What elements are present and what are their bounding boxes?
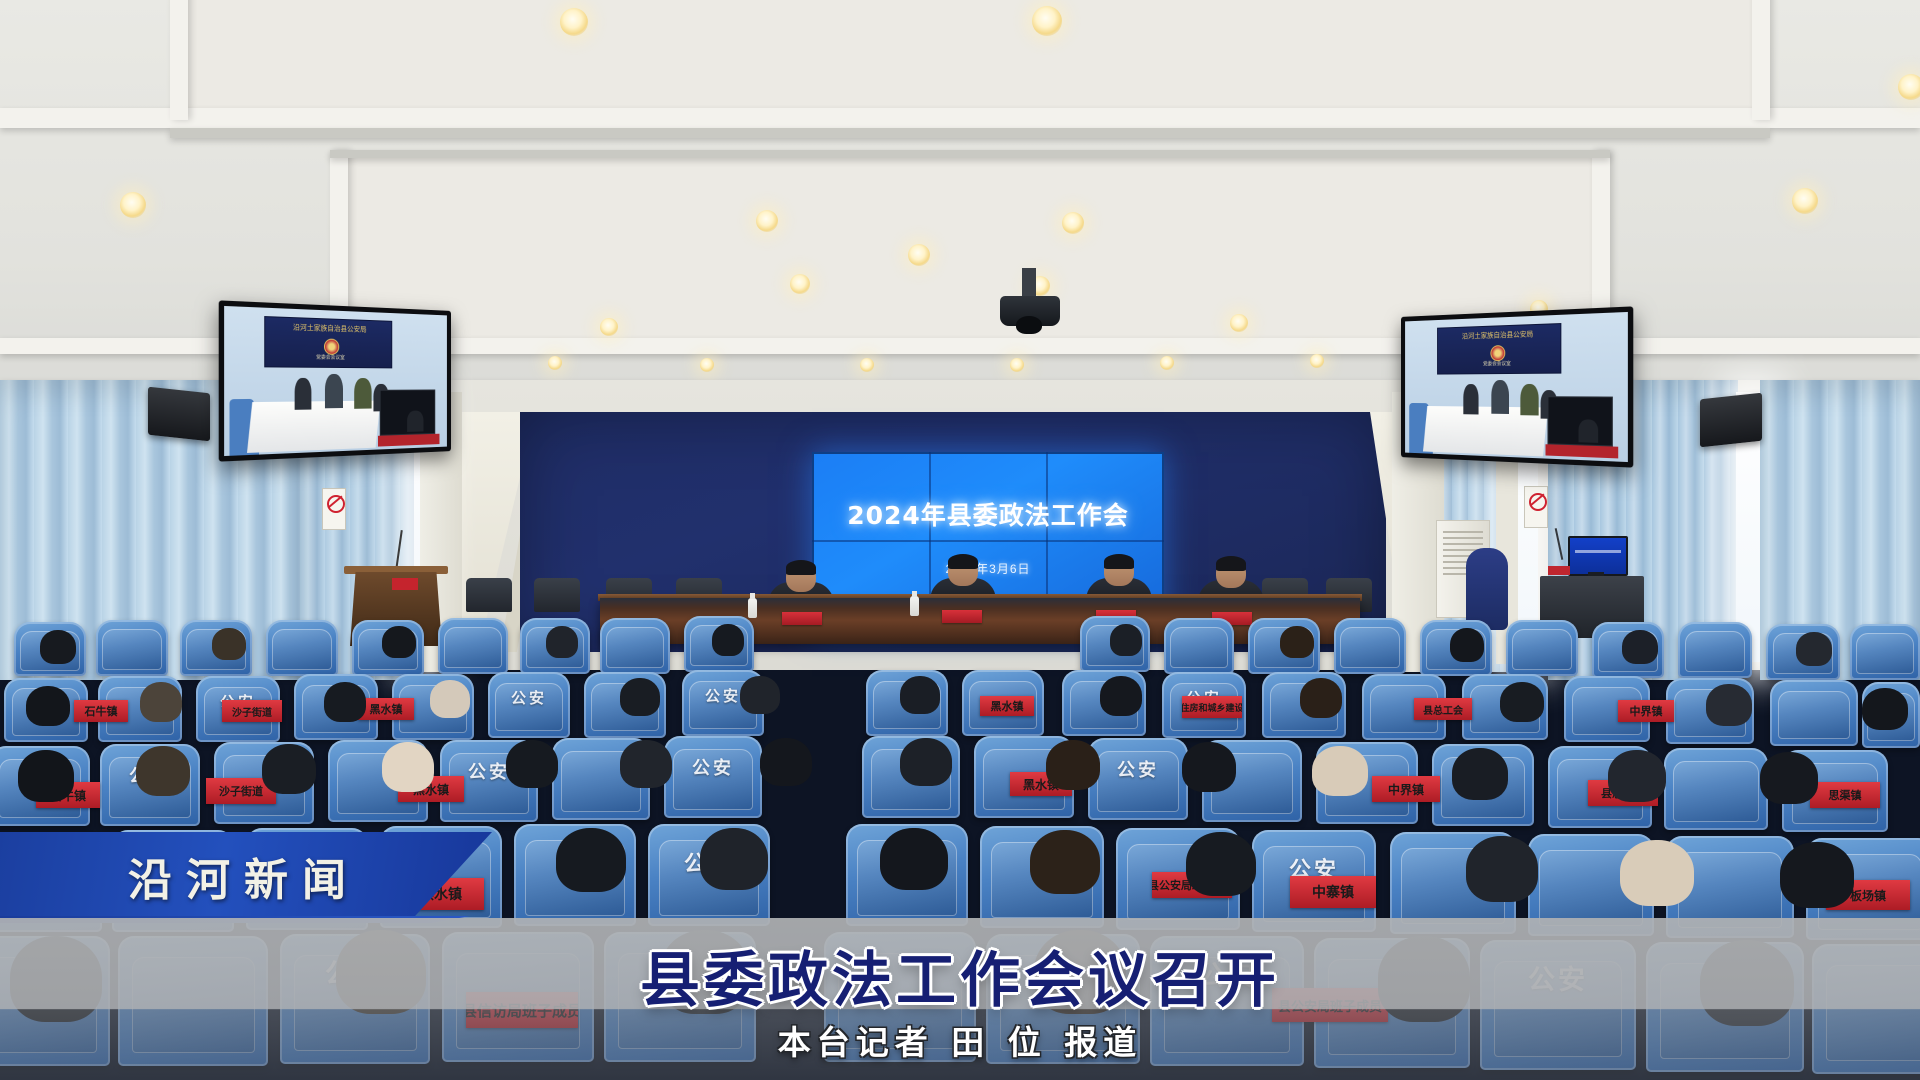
- audience-seat: [266, 620, 338, 676]
- police-emblem-icon: [1490, 345, 1505, 361]
- ceiling-beam: [0, 108, 1920, 128]
- attendee-head: [1280, 626, 1314, 658]
- ceiling-beam: [1752, 0, 1770, 120]
- ceiling-beam: [170, 0, 188, 120]
- attendee-head: [1450, 628, 1484, 662]
- attendee-head: [900, 676, 940, 714]
- downlight: [1230, 314, 1248, 332]
- department-placard: 黑水镇: [358, 698, 414, 720]
- attendee-head: [1182, 742, 1236, 792]
- feed-person: [1491, 380, 1509, 414]
- downlight: [600, 318, 618, 336]
- feed-person: [354, 378, 371, 409]
- downlight: [1898, 74, 1920, 100]
- downlight: [1792, 188, 1818, 214]
- attendee-head: [620, 678, 660, 716]
- attendee-head: [1100, 676, 1142, 716]
- reporter-credit: 本台记者 田 位 报道: [0, 1016, 1920, 1064]
- ceiling-beam-shade: [170, 128, 1770, 138]
- attendee-head: [382, 626, 416, 658]
- department-placard: 黑水镇: [980, 696, 1034, 716]
- podium-placard: [392, 578, 418, 590]
- department-placard: 石牛镇: [74, 700, 128, 722]
- feed-banner-left: 沿河土家族自治县公安局 党委会会议室: [264, 316, 392, 368]
- audience-seat: 公安: [488, 672, 570, 738]
- control-desk-placard: [1548, 566, 1570, 575]
- attendee-head: [1608, 750, 1666, 802]
- control-desk-monitor: [1568, 536, 1628, 576]
- police-emblem-icon: [324, 338, 339, 354]
- attendee-head: [546, 626, 578, 658]
- speaker-left: [148, 387, 210, 442]
- attendee-head: [212, 628, 246, 660]
- video-feed-left: 沿河土家族自治县公安局 党委会会议室: [224, 306, 447, 456]
- seat-print-label: 公安: [664, 754, 762, 780]
- led-wall-title: 2024年县委政法工作会: [812, 496, 1164, 532]
- downlight: [120, 192, 146, 218]
- ceiling-coffer: [330, 150, 1610, 340]
- no-smoking-icon: [1524, 486, 1548, 528]
- attendee-head: [140, 682, 182, 722]
- attendee-head: [506, 740, 558, 788]
- attendee-head: [1300, 678, 1342, 718]
- audience-seat: [1678, 622, 1752, 678]
- audience-seat: [1664, 748, 1768, 830]
- audience-seat: [96, 620, 168, 676]
- attendee-head: [262, 744, 316, 794]
- department-placard: 思渠镇: [1810, 782, 1880, 808]
- attendee-head: [740, 676, 780, 714]
- audience-seat: [1770, 680, 1858, 746]
- attendee-head: [712, 624, 744, 656]
- feed-person: [1464, 384, 1479, 414]
- department-placard: 中界镇: [1372, 776, 1440, 802]
- camera-lens-icon: [1016, 316, 1042, 334]
- feed-person: [407, 410, 423, 432]
- speaker-right: [1700, 393, 1762, 448]
- audience-seat: [1334, 618, 1406, 674]
- attendee-head: [1046, 740, 1100, 790]
- attendee-head: [1706, 684, 1752, 726]
- feed-person: [325, 374, 343, 408]
- audience-seat: 公安: [664, 736, 762, 818]
- audience-seat: [438, 618, 508, 674]
- audience-seat: [600, 618, 670, 674]
- lower-third-graphics: 沿河新闻 县委政法工作会议召开 本台记者 田 位 报道: [0, 820, 1920, 1080]
- downlight: [1310, 354, 1324, 368]
- seat-print-label: 公安: [1088, 756, 1188, 782]
- downlight: [860, 358, 874, 372]
- feed-red-placard: [1545, 444, 1617, 458]
- channel-logo-text: 沿河新闻: [128, 844, 360, 908]
- feed-red-placard: [378, 434, 439, 447]
- downlight: [1032, 6, 1062, 36]
- downlight: [548, 356, 562, 370]
- downlight: [1062, 212, 1084, 234]
- feed-banner-subtitle: 党委会会议室: [265, 352, 391, 361]
- news-headline: 县委政法工作会议召开: [0, 932, 1920, 1019]
- attendee-head: [1796, 632, 1832, 666]
- attendee-head: [1312, 746, 1368, 796]
- feed-banner-right: 沿河土家族自治县公安局 党委会会议室: [1437, 323, 1561, 374]
- department-placard: 沙子街道: [222, 700, 282, 722]
- ceiling-beam-shade: [330, 150, 1610, 158]
- attendee-head: [1622, 630, 1658, 664]
- feed-person: [1520, 384, 1538, 415]
- broadcast-frame: 2024年县委政法工作会 2024年3月6日 沿河土家族自治县: [0, 0, 1920, 1080]
- wall-monitor-left: 沿河土家族自治县公安局 党委会会议室: [219, 300, 451, 461]
- audience-seat: 公安: [1088, 738, 1188, 820]
- attendee-head: [324, 682, 366, 722]
- wall-monitor-right: 沿河土家族自治县公安局 党委会会议室: [1401, 306, 1633, 467]
- downlight: [1010, 358, 1024, 372]
- seat-print-label: 公安: [488, 687, 570, 708]
- attendee-head: [26, 686, 70, 726]
- audience-seat: [1850, 624, 1920, 680]
- attendee-head: [1760, 752, 1818, 804]
- downlight: [790, 274, 810, 294]
- attendee-head: [1110, 624, 1142, 656]
- downlight: [700, 358, 714, 372]
- attendee-head: [1862, 688, 1908, 730]
- attendee-head: [620, 740, 672, 788]
- attendee-head: [136, 746, 190, 796]
- no-smoking-icon: [322, 488, 346, 530]
- downlight: [908, 244, 930, 266]
- attendee-head: [430, 680, 470, 718]
- downlight: [1160, 356, 1174, 370]
- feed-person: [1578, 419, 1597, 443]
- attendee-head: [40, 630, 76, 664]
- attendee-head: [760, 738, 812, 786]
- attendee-head: [1452, 748, 1508, 800]
- department-placard: 县总工会: [1414, 698, 1472, 720]
- feed-banner-subtitle: 党委会会议室: [1438, 359, 1561, 368]
- downlight: [560, 8, 588, 36]
- feed-banner-title: 沿河土家族自治县公安局: [1438, 328, 1561, 342]
- feed-banner-title: 沿河土家族自治县公安局: [265, 321, 391, 335]
- attendee-head: [18, 750, 74, 802]
- video-feed-right: 沿河土家族自治县公安局 党委会会议室: [1405, 312, 1628, 462]
- ceiling-coffer: [170, 0, 1770, 110]
- audience-seat: [1506, 620, 1578, 676]
- audience-seat: [1164, 618, 1234, 674]
- department-placard: 县住房和城乡建设局: [1182, 696, 1242, 718]
- feed-person: [295, 378, 311, 410]
- attendee-head: [382, 742, 434, 792]
- attendee-head: [1500, 682, 1544, 722]
- department-placard: 中界镇: [1618, 700, 1674, 722]
- attendee-head: [900, 738, 952, 786]
- downlight: [756, 210, 778, 232]
